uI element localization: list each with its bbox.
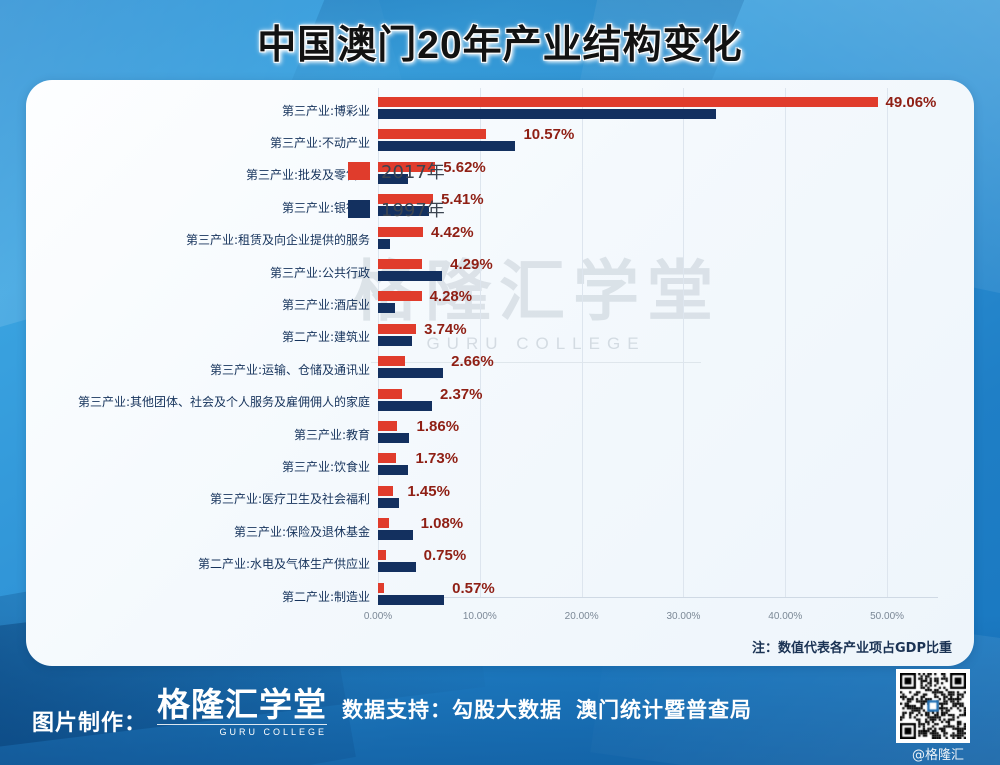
legend-item[interactable]: 1997年 <box>348 196 445 222</box>
bar-row: 1.45% <box>378 483 974 515</box>
bar-1997 <box>378 239 390 249</box>
x-tick-label: 10.00% <box>463 611 497 622</box>
bar-row: 1.08% <box>378 515 974 547</box>
bar-value-label: 2.37% <box>440 386 483 403</box>
bar-row: 0.75% <box>378 547 974 579</box>
category-label: 第二产业:制造业 <box>282 580 370 612</box>
bar-row: 5.41% <box>378 191 974 223</box>
bar-value-label: 49.06% <box>886 94 937 111</box>
qr-handle-label: @格隆汇 <box>912 744 964 763</box>
chart-legend: 2017年1997年 <box>348 158 445 234</box>
footer-brand-cn: 格隆汇学堂 <box>157 688 327 721</box>
bar-1997 <box>378 271 442 281</box>
bar-2017 <box>378 324 416 334</box>
category-label: 第三产业:公共行政 <box>270 256 370 288</box>
category-label: 第三产业:其他团体、社会及个人服务及雇佣佣人的家庭 <box>78 386 370 418</box>
qr-code-canvas <box>900 673 966 739</box>
bar-value-label: 4.28% <box>430 288 473 305</box>
bar-2017 <box>378 518 389 528</box>
category-label: 第三产业:保险及退休基金 <box>234 515 370 547</box>
bar-row: 4.42% <box>378 224 974 256</box>
bar-1997 <box>378 498 399 508</box>
bar-row: 5.62% <box>378 159 974 191</box>
bar-row: 10.57% <box>378 126 974 158</box>
x-tick-label: 40.00% <box>768 611 802 622</box>
bar-value-label: 5.41% <box>441 191 484 208</box>
footer-brand: 格隆汇学堂 GURU COLLEGE <box>157 688 327 737</box>
category-label: 第二产业:水电及气体生产供应业 <box>198 548 370 580</box>
category-label: 第三产业:运输、仓储及通讯业 <box>210 353 370 385</box>
chart-card: 格隆汇学堂 GURU COLLEGE 第三产业:博彩业第三产业:不动产业第三产业… <box>26 80 974 666</box>
bar-2017 <box>378 97 878 107</box>
bar-1997 <box>378 401 432 411</box>
bar-1997 <box>378 109 716 119</box>
bar-1997 <box>378 595 444 605</box>
bar-value-label: 1.73% <box>416 450 459 467</box>
category-label: 第三产业:酒店业 <box>282 288 370 320</box>
footer-source-2: 澳门统计暨普查局 <box>576 699 752 722</box>
qr-code-icon[interactable] <box>896 669 970 743</box>
footer-credit: 图片制作： 格隆汇学堂 GURU COLLEGE <box>32 688 327 737</box>
chart-note: 注：数值代表各产业项占GDP比重 <box>752 637 952 656</box>
bar-2017 <box>378 259 422 269</box>
qr-code-wrap[interactable]: @格隆汇 <box>896 669 970 743</box>
bar-value-label: 1.86% <box>417 418 460 435</box>
bar-1997 <box>378 562 416 572</box>
legend-swatch <box>348 162 370 180</box>
legend-swatch <box>348 200 370 218</box>
bar-row: 49.06% <box>378 94 974 126</box>
infographic-root: 中国澳门20年产业结构变化 格隆汇学堂 GURU COLLEGE 第三产业:博彩… <box>0 0 1000 765</box>
legend-label: 2017年 <box>381 158 445 184</box>
bar-value-label: 10.57% <box>523 126 574 143</box>
bar-value-label: 3.74% <box>424 321 467 338</box>
bar-2017 <box>378 356 405 366</box>
legend-label: 1997年 <box>381 196 445 222</box>
category-label: 第三产业:饮食业 <box>282 450 370 482</box>
bar-value-label: 5.62% <box>443 159 486 176</box>
bar-2017 <box>378 550 386 560</box>
x-tick-label: 0.00% <box>364 611 392 622</box>
bar-2017 <box>378 583 384 593</box>
bar-2017 <box>378 453 396 463</box>
bar-2017 <box>378 129 486 139</box>
footer-brand-en: GURU COLLEGE <box>157 724 327 737</box>
category-axis-labels: 第三产业:博彩业第三产业:不动产业第三产业:批发及零售业第三产业:银行业第三产业… <box>26 80 378 628</box>
footer-data-sources: 数据支持：勾股大数据澳门统计暨普查局 <box>342 694 752 724</box>
bar-2017 <box>378 291 422 301</box>
category-label: 第三产业:博彩业 <box>282 94 370 126</box>
bar-value-label: 1.08% <box>421 515 464 532</box>
footer-make-label: 图片制作： <box>32 705 147 737</box>
footer-bar: 图片制作： 格隆汇学堂 GURU COLLEGE 数据支持：勾股大数据澳门统计暨… <box>0 666 1000 765</box>
bar-1997 <box>378 141 515 151</box>
footer-data-label: 数据支持： <box>342 699 452 722</box>
bar-2017 <box>378 486 393 496</box>
bar-row: 4.28% <box>378 288 974 320</box>
bar-1997 <box>378 303 395 313</box>
category-label: 第三产业:教育 <box>294 418 370 450</box>
bar-row: 1.86% <box>378 418 974 450</box>
bar-value-label: 1.45% <box>407 483 450 500</box>
bar-row: 2.66% <box>378 353 974 385</box>
bar-2017 <box>378 421 397 431</box>
bar-row: 3.74% <box>378 321 974 353</box>
bar-1997 <box>378 368 443 378</box>
plot-area: 49.06%10.57%5.62%5.41%4.42%4.29%4.28%3.7… <box>378 88 974 636</box>
bar-1997 <box>378 530 413 540</box>
x-tick-label: 30.00% <box>666 611 700 622</box>
bar-row: 1.73% <box>378 450 974 482</box>
bar-row: 4.29% <box>378 256 974 288</box>
bar-row: 2.37% <box>378 386 974 418</box>
legend-item[interactable]: 2017年 <box>348 158 445 184</box>
category-label: 第三产业:租赁及向企业提供的服务 <box>186 224 370 256</box>
bar-value-label: 0.57% <box>452 580 495 597</box>
bar-value-label: 2.66% <box>451 353 494 370</box>
bar-2017 <box>378 389 402 399</box>
bar-row: 0.57% <box>378 580 974 612</box>
bar-1997 <box>378 433 409 443</box>
bar-value-label: 4.29% <box>450 256 493 273</box>
bar-1997 <box>378 465 408 475</box>
category-label: 第三产业:医疗卫生及社会福利 <box>210 483 370 515</box>
category-label: 第三产业:不动产业 <box>270 126 370 158</box>
bar-rows: 49.06%10.57%5.62%5.41%4.42%4.29%4.28%3.7… <box>378 94 974 598</box>
bar-1997 <box>378 336 412 346</box>
page-title: 中国澳门20年产业结构变化 <box>0 14 1000 70</box>
x-tick-label: 50.00% <box>870 611 904 622</box>
category-label: 第二产业:建筑业 <box>282 321 370 353</box>
x-tick-label: 20.00% <box>565 611 599 622</box>
bar-value-label: 0.75% <box>424 547 467 564</box>
footer-source-1: 勾股大数据 <box>452 699 562 722</box>
